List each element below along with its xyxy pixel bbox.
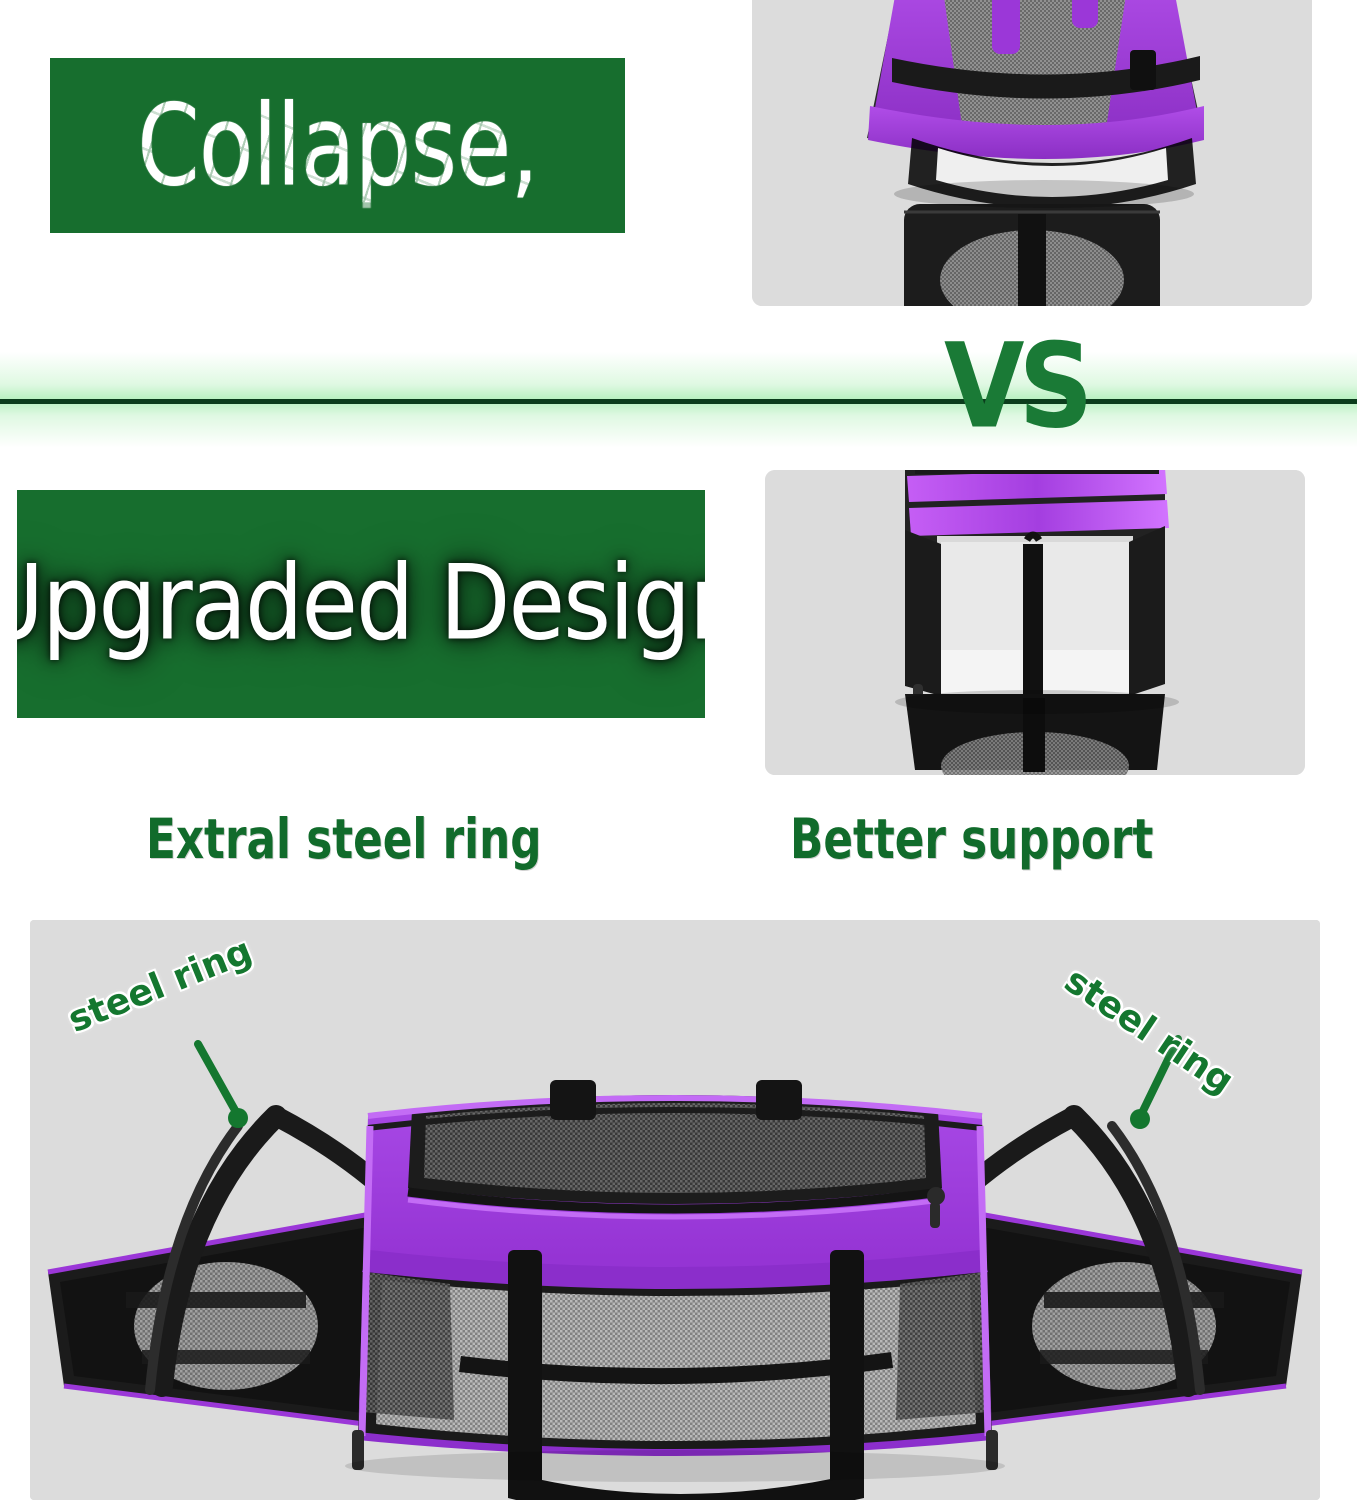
vs-label: VS — [944, 328, 1087, 444]
upgraded-carrier-illustration — [765, 470, 1305, 775]
collapsed-carrier-photo — [752, 0, 1312, 306]
collapsed-carrier-illustration — [752, 0, 1312, 306]
steel-ring-leader-left — [190, 1040, 250, 1128]
upgraded-carrier-photo — [765, 470, 1305, 775]
caption-better-support: Better support — [790, 807, 1153, 872]
infographic-root: Collapse, — [0, 0, 1357, 1500]
vs-divider: VS — [0, 352, 1357, 448]
banner-collapse-label: Collapse, — [137, 89, 538, 202]
banner-upgraded-label: Upgraded Design — [17, 552, 705, 655]
banner-upgraded-design: Upgraded Design — [17, 490, 705, 718]
banner-collapse: Collapse, — [50, 58, 625, 233]
divider-line — [0, 399, 1357, 404]
caption-extra-steel-ring: Extral steel ring — [146, 807, 542, 872]
